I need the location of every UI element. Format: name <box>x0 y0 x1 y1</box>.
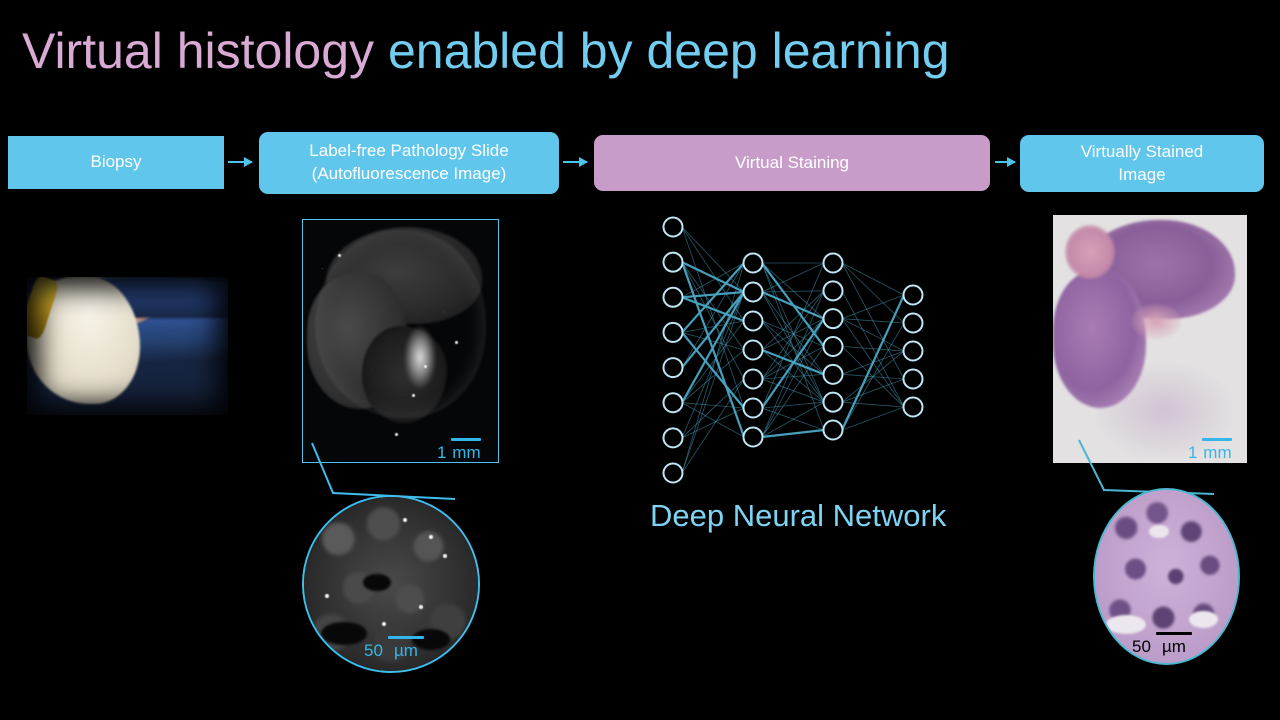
scalebar-zoom-left: 50 µm <box>364 636 424 659</box>
af-speck <box>395 433 398 436</box>
flow-box-stained-line2: Image <box>1118 165 1165 184</box>
nn-node-hidden-layer-2-4 <box>824 337 843 356</box>
flow-box-virtually-stained-image[interactable]: Virtually Stained Image <box>1020 135 1264 192</box>
scalebar-zl-value: 50 <box>364 642 383 659</box>
scalebar-af-bar <box>451 438 481 441</box>
nn-node-input-layer-5 <box>664 358 683 377</box>
nn-node-hidden-layer-2-5 <box>824 365 843 384</box>
af-noise-overlay <box>303 220 498 462</box>
flow-box-stained-line1: Virtually Stained <box>1081 142 1204 161</box>
nn-node-hidden-layer-1-2 <box>744 283 763 302</box>
scalebar-zoom-right: 50 µm <box>1132 632 1192 655</box>
arrow-right-icon-3 <box>995 161 1015 163</box>
title-part-pink: Virtual histology <box>22 23 388 79</box>
nn-node-hidden-layer-1-5 <box>744 370 763 389</box>
nn-node-hidden-layer-1-4 <box>744 341 763 360</box>
nn-node-hidden-layer-2-7 <box>824 421 843 440</box>
neural-network-edges <box>682 227 904 473</box>
zoom-left-lumen <box>363 574 391 591</box>
nn-node-input-layer-2 <box>664 253 683 272</box>
flow-box-label-free-slide[interactable]: Label-free Pathology Slide (Autofluoresc… <box>259 132 559 194</box>
biopsy-procedure-photo <box>27 277 228 415</box>
flow-box-slide-line2: (Autofluorescence Image) <box>312 164 507 183</box>
nn-node-input-layer-8 <box>664 464 683 483</box>
autofluorescence-image <box>302 219 499 463</box>
scalebar-autofluorescence: 1 mm <box>437 438 481 461</box>
flow-box-biopsy-label: Biopsy <box>90 151 141 174</box>
he-eosin-region-b <box>1131 304 1181 339</box>
zoom-left-lumen <box>321 622 366 645</box>
scalebar-he-unit: mm <box>1203 444 1231 461</box>
af-speck <box>338 254 341 257</box>
arrow-right-icon-1 <box>228 161 252 163</box>
scalebar-zr-unit: µm <box>1162 638 1186 655</box>
scalebar-zr-bar <box>1156 632 1192 635</box>
nn-node-output-layer-3 <box>904 342 923 361</box>
scalebar-zr-value: 50 <box>1132 638 1151 655</box>
scalebar-zl-bar <box>388 636 424 639</box>
nn-node-input-layer-1 <box>664 218 683 237</box>
scalebar-af-unit: mm <box>452 444 480 461</box>
nn-node-output-layer-4 <box>904 370 923 389</box>
nn-node-output-layer-5 <box>904 398 923 417</box>
slide-canvas: Virtual histology enabled by deep learni… <box>0 0 1280 720</box>
nn-node-input-layer-6 <box>664 393 683 412</box>
page-title: Virtual histology enabled by deep learni… <box>22 24 950 79</box>
nn-node-output-layer-1 <box>904 286 923 305</box>
title-part-blue: enabled by deep learning <box>388 23 950 79</box>
nn-node-input-layer-4 <box>664 323 683 342</box>
flow-box-virtual-staining[interactable]: Virtual Staining <box>594 135 990 191</box>
nn-node-output-layer-2 <box>904 314 923 333</box>
nn-node-hidden-layer-1-6 <box>744 399 763 418</box>
neural-network-diagram <box>640 215 960 485</box>
nn-node-hidden-layer-2-3 <box>824 309 843 328</box>
scalebar-he-value: 1 <box>1188 444 1197 461</box>
nn-node-hidden-layer-2-2 <box>824 281 843 300</box>
flow-box-label-free-slide-label: Label-free Pathology Slide (Autofluoresc… <box>309 140 508 186</box>
nn-node-hidden-layer-1-1 <box>744 254 763 273</box>
nn-node-hidden-layer-1-7 <box>744 428 763 447</box>
nn-node-hidden-layer-2-1 <box>824 254 843 273</box>
scalebar-zl-unit: µm <box>394 642 418 659</box>
arrow-right-icon-2 <box>563 161 587 163</box>
neural-network-label: Deep Neural Network <box>650 498 946 534</box>
flow-box-stained-label: Virtually Stained Image <box>1081 141 1204 187</box>
nn-node-input-layer-3 <box>664 288 683 307</box>
scalebar-af-value: 1 <box>437 444 446 461</box>
flow-box-virtual-staining-label: Virtual Staining <box>735 152 849 175</box>
scalebar-he: 1 mm <box>1188 438 1232 461</box>
nn-node-hidden-layer-2-6 <box>824 393 843 412</box>
he-eosin-region-a <box>1065 225 1115 280</box>
flow-box-biopsy[interactable]: Biopsy <box>8 136 224 189</box>
scalebar-he-bar <box>1202 438 1232 441</box>
nn-node-hidden-layer-1-3 <box>744 312 763 331</box>
zoom-right-lumen <box>1106 615 1146 634</box>
biopsy-vignette <box>27 277 228 415</box>
virtually-stained-he-image <box>1053 215 1247 463</box>
flow-box-slide-line1: Label-free Pathology Slide <box>309 141 508 160</box>
zoom-left-speck <box>419 605 423 609</box>
nn-node-input-layer-7 <box>664 428 683 447</box>
